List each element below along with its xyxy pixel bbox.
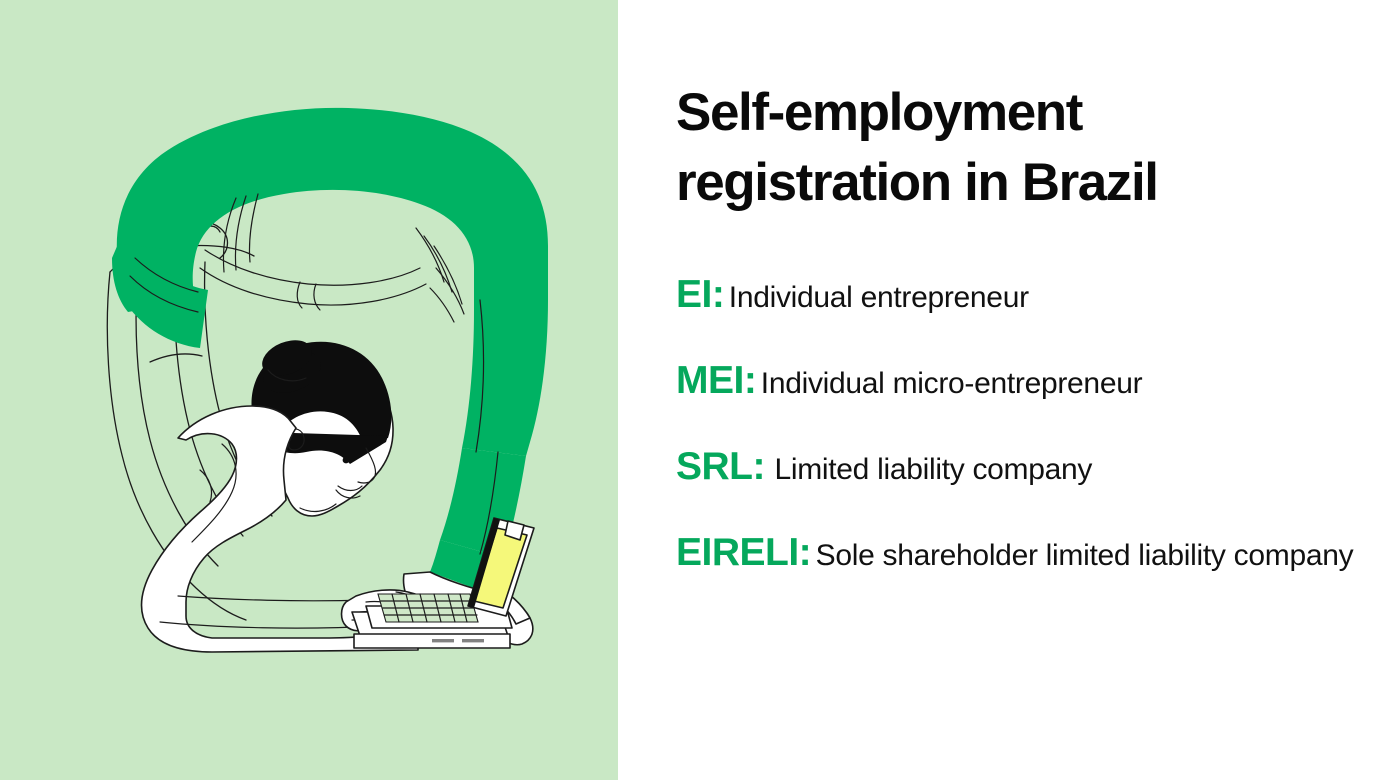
keyboard-keys: [378, 594, 478, 622]
list-item: SRL: Limited liability company: [676, 444, 1376, 490]
entry-description: Sole shareholder limited liability compa…: [816, 539, 1354, 572]
page-title: Self-employment registration in Brazil: [676, 78, 1366, 218]
entry-abbreviation: EI:: [676, 273, 724, 316]
list-item: EI: Individual entrepreneur: [676, 272, 1376, 318]
entry-description: Limited liability company: [774, 453, 1092, 486]
entry-description: Individual micro-entrepreneur: [761, 367, 1143, 400]
list-item: EIRELI: Sole shareholder limited liabili…: [676, 530, 1376, 576]
entry-description: Individual entrepreneur: [729, 281, 1029, 314]
registration-type-list: EI: Individual entrepreneur MEI: Individ…: [676, 272, 1376, 576]
entry-abbreviation: EIRELI:: [676, 531, 811, 574]
illustration-panel: [0, 0, 618, 780]
contortionist-illustration: [0, 0, 618, 780]
content-panel: Self-employment registration in Brazil E…: [618, 0, 1400, 780]
entry-abbreviation: MEI:: [676, 359, 756, 402]
list-item: MEI: Individual micro-entrepreneur: [676, 358, 1376, 404]
entry-abbreviation: SRL:: [676, 445, 765, 488]
slide: Self-employment registration in Brazil E…: [0, 0, 1400, 780]
